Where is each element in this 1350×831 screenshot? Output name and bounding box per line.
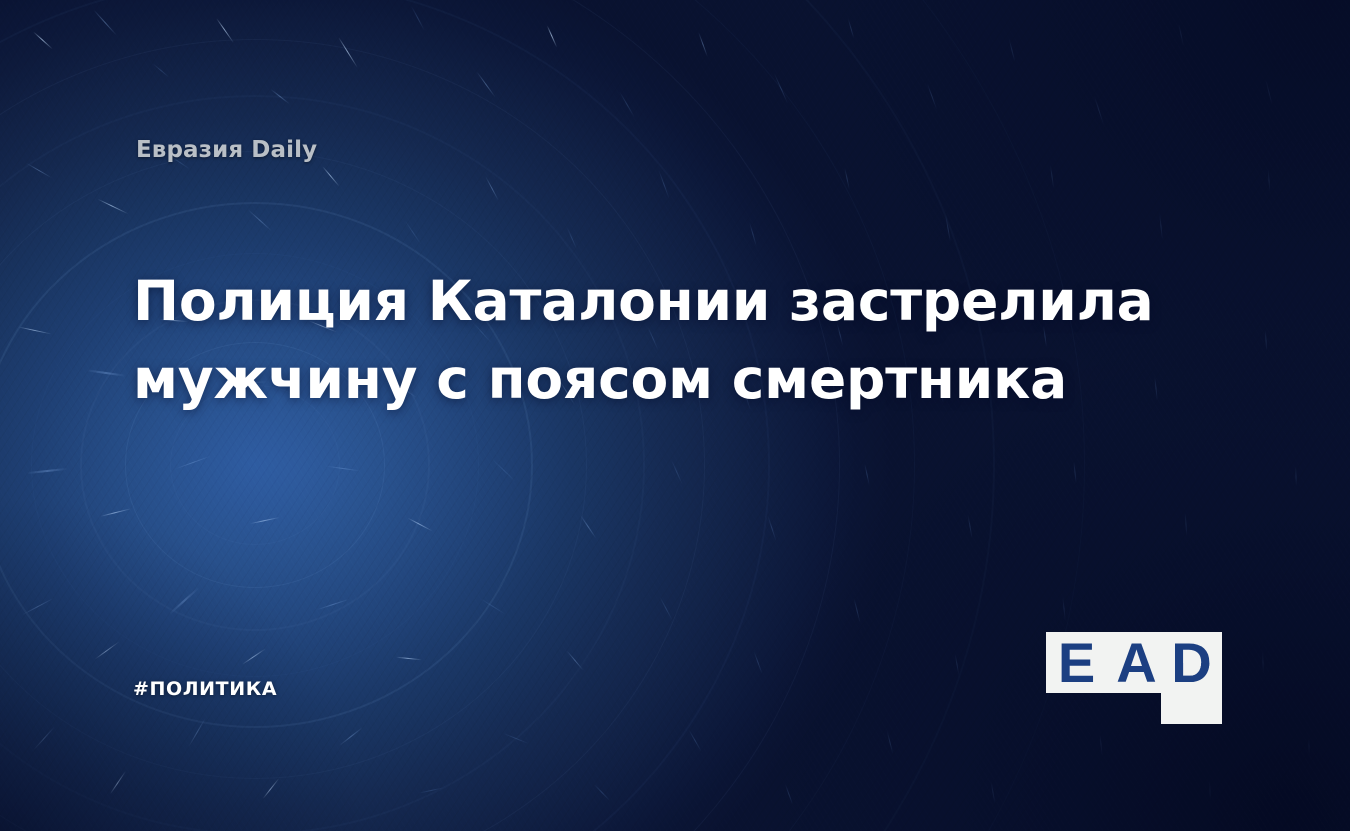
headline: Полиция Каталонии застрелила мужчину с п… — [133, 262, 1033, 418]
news-social-card: Евразия Daily Полиция Каталонии застрели… — [0, 0, 1350, 831]
category-tag[interactable]: #ПОЛИТИКА — [133, 678, 277, 700]
headline-line-1: Полиция Каталонии застрелила — [133, 262, 1033, 340]
logo-letter-e: E — [1046, 632, 1107, 693]
logo-letter-d-lower: D — [1161, 663, 1222, 693]
card-content: Евразия Daily Полиция Каталонии застрели… — [0, 0, 1350, 831]
logo-letter-d-bottom-half: D — [1161, 663, 1222, 724]
brand-title: Евразия Daily — [136, 137, 317, 163]
ead-logo: E A D D — [1046, 632, 1222, 724]
headline-line-2: мужчину с поясом смертника — [133, 340, 1033, 418]
logo-letter-a: A — [1106, 632, 1167, 693]
